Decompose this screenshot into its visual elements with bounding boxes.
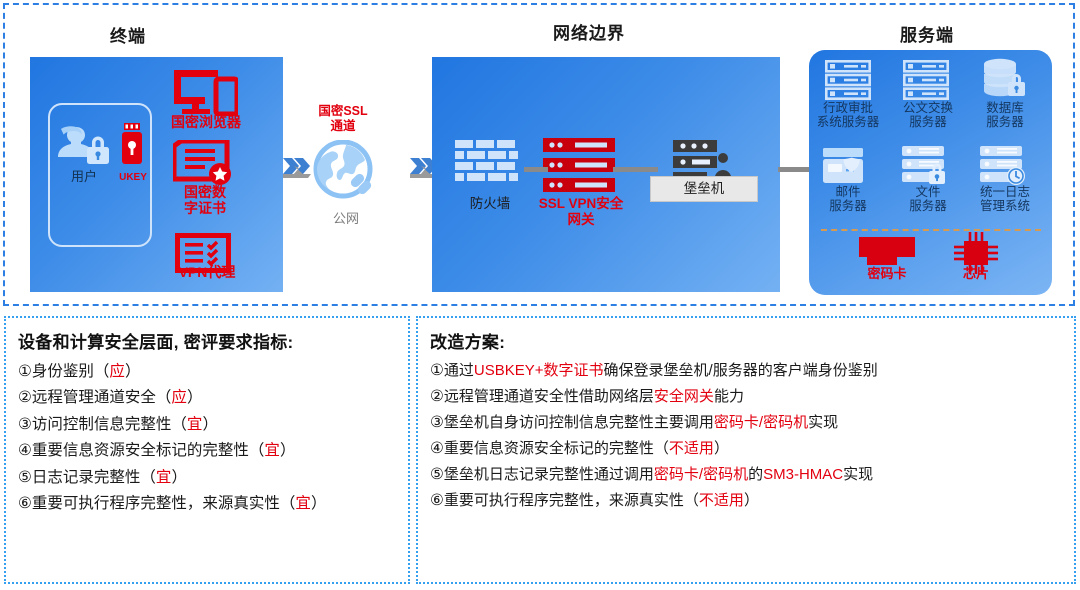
item-tail: ）	[187, 389, 203, 406]
solution-heading: 改造方案:	[430, 328, 1064, 353]
highlight-text: 不适用	[699, 492, 744, 509]
brick-wall-icon	[455, 140, 525, 190]
item-text: 确保登录堡垒机/服务器的客户端身份鉴别	[604, 362, 878, 379]
item-text: ）	[744, 492, 759, 509]
solution-item: ②远程管理通道安全性借助网络层安全网关能力	[430, 384, 1064, 410]
requirement-item: ⑤日志记录完整性（宜）	[18, 464, 398, 491]
item-number: ⑤	[18, 469, 32, 486]
item-tail: ）	[311, 495, 327, 512]
item-text: ）	[714, 440, 729, 457]
vpn-gateway-label: SSL VPN安全 网关	[533, 196, 629, 228]
item-text: 身份鉴别（	[32, 363, 110, 380]
item-tag: 宜	[187, 416, 203, 433]
item-number: ⑥	[430, 492, 444, 509]
server-crypto-divider	[821, 229, 1041, 231]
highlight-text: 不适用	[669, 440, 714, 457]
item-tag: 宜	[264, 442, 280, 459]
globe-chain-icon	[310, 140, 382, 202]
ssl-channel-label: 国密SSL 通道	[302, 104, 384, 134]
item-text: 远程管理通道安全（	[32, 389, 172, 406]
item-tag: 应	[171, 389, 187, 406]
requirement-item: ④重要信息资源安全标记的完整性（宜）	[18, 438, 398, 465]
public-network-label: 公网	[312, 212, 380, 227]
item-number: ④	[430, 440, 444, 457]
item-text: 通过	[444, 362, 474, 379]
mail-server-icon	[822, 147, 872, 185]
zone-title-network-boundary: 网络边界	[553, 19, 625, 44]
item-text: 堡垒机自身访问控制信息完整性主要调用	[444, 414, 714, 431]
item-number: ④	[18, 442, 32, 459]
server-node-label: 邮件 服务器	[812, 185, 884, 213]
monitor-tablet-icon	[172, 68, 238, 116]
solution-box: 改造方案: ①通过USBKEY+数字证书确保登录堡垒机/服务器的客户端身份鉴别②…	[416, 316, 1076, 584]
highlight-text: 安全网关	[654, 388, 714, 405]
requirement-item: ⑥重要可执行程序完整性，来源真实性（宜）	[18, 491, 398, 518]
server-node-label: 行政审批 系统服务器	[810, 101, 886, 129]
file-server-lock-icon	[901, 145, 949, 185]
item-number: ⑥	[18, 495, 32, 512]
link-gateway-to-bastion	[613, 167, 658, 172]
server-node-label: 文件 服务器	[893, 185, 963, 213]
item-text: 能力	[714, 388, 744, 405]
log-clock-icon	[979, 145, 1029, 185]
item-tail: ）	[125, 363, 141, 380]
server-rack-icon	[543, 138, 615, 192]
item-number: ⑤	[430, 466, 444, 483]
solution-item: ④重要信息资源安全标记的完整性（不适用）	[430, 436, 1064, 462]
requirement-item: ③访问控制信息完整性（宜）	[18, 411, 398, 438]
user-lock-icon	[55, 125, 113, 167]
zone-title-terminal: 终端	[110, 22, 146, 47]
ukey-label: UKEY	[108, 172, 158, 183]
item-text: 重要信息资源安全标记的完整性（	[32, 442, 265, 459]
certificate-icon	[173, 140, 235, 188]
item-tail: ）	[202, 416, 218, 433]
zone-title-server-side: 服务端	[900, 21, 954, 46]
database-lock-icon	[982, 58, 1026, 100]
item-tag: 宜	[295, 495, 311, 512]
requirement-item: ②远程管理通道安全（应）	[18, 385, 398, 412]
user-label: 用户	[52, 170, 116, 185]
item-text: 的	[748, 466, 763, 483]
requirements-box: 设备和计算安全层面, 密评要求指标: ①身份鉴别（应）②远程管理通道安全（应）③…	[4, 316, 410, 584]
requirements-heading: 设备和计算安全层面, 密评要求指标:	[18, 328, 398, 353]
item-text: 实现	[843, 466, 873, 483]
highlight-text: 密码卡/密码机	[654, 466, 748, 483]
architecture-diagram-page: 终端 网络边界 服务端 用户 UKEY 国密浏览器	[0, 0, 1080, 590]
browser-label: 国密浏览器	[150, 115, 262, 131]
bastion-host-label-box: 堡垒机	[650, 176, 758, 202]
item-text: 远程管理通道安全性借助网络层	[444, 388, 654, 405]
item-text: 重要信息资源安全标记的完整性（	[444, 440, 669, 457]
server-node-label: 公文交换 服务器	[893, 101, 963, 129]
crypto-card-icon	[859, 237, 915, 267]
item-text: 日志记录完整性（	[32, 469, 156, 486]
highlight-text: SM3-HMAC	[763, 466, 843, 483]
item-number: ②	[430, 388, 444, 405]
requirement-item: ①身份鉴别（应）	[18, 358, 398, 385]
item-text: 重要可执行程序完整性，来源真实性（	[32, 495, 296, 512]
item-text: 重要可执行程序完整性，来源真实性（	[444, 492, 699, 509]
server-node-label: 数据库 服务器	[968, 101, 1042, 129]
solution-item: ⑥重要可执行程序完整性，来源真实性（不适用）	[430, 487, 1064, 513]
solution-item: ⑤堡垒机日志记录完整性通过调用密码卡/密码机的SM3-HMAC实现	[430, 462, 1064, 488]
highlight-text: USBKEY+数字证书	[474, 362, 604, 379]
certificate-label: 国密数 字证书	[158, 185, 252, 216]
server-node-label: 统一日志 管理系统	[965, 185, 1045, 213]
item-number: ②	[18, 389, 32, 406]
solution-item: ③堡垒机自身访问控制信息完整性主要调用密码卡/密码机实现	[430, 410, 1064, 436]
firewall-label: 防火墙	[450, 196, 530, 211]
item-text: 实现	[808, 414, 838, 431]
vpn-proxy-label: VPN代理	[152, 265, 262, 281]
highlight-text: 密码卡/密码机	[714, 414, 808, 431]
item-number: ③	[430, 414, 444, 431]
item-text: 访问控制信息完整性（	[32, 416, 187, 433]
link-firewall-to-gateway	[524, 167, 548, 172]
solution-list: ①通过USBKEY+数字证书确保登录堡垒机/服务器的客户端身份鉴别②远程管理通道…	[430, 358, 1064, 513]
item-number: ①	[430, 362, 444, 379]
item-text: 堡垒机日志记录完整性通过调用	[444, 466, 654, 483]
double-chevron-icon	[283, 156, 311, 178]
server-rack-icon	[903, 60, 949, 100]
item-tail: ）	[280, 442, 296, 459]
item-number: ①	[18, 363, 32, 380]
crypto-card-label: 密码卡	[852, 267, 922, 282]
solution-item: ①通过USBKEY+数字证书确保登录堡垒机/服务器的客户端身份鉴别	[430, 358, 1064, 384]
requirements-list: ①身份鉴别（应）②远程管理通道安全（应）③访问控制信息完整性（宜）④重要信息资源…	[18, 358, 398, 517]
item-number: ③	[18, 416, 32, 433]
ukey-icon	[121, 123, 143, 167]
server-rack-icon	[825, 60, 871, 100]
item-tail: ）	[171, 469, 187, 486]
item-tag: 应	[109, 363, 125, 380]
chip-label: 芯片	[948, 267, 1004, 282]
item-tag: 宜	[156, 469, 172, 486]
